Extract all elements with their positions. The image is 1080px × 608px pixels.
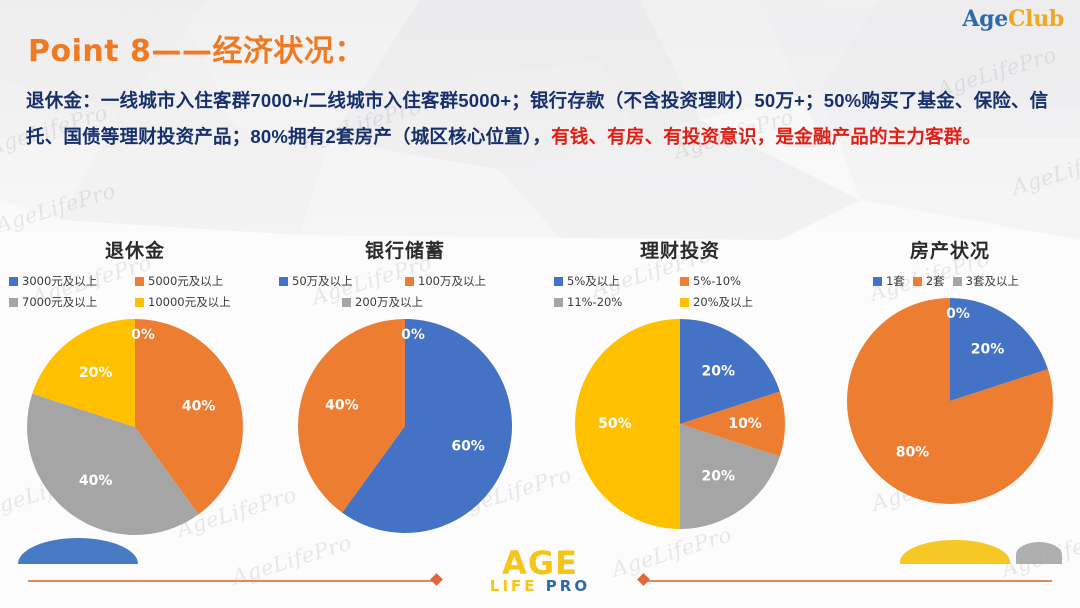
pie-chart: 60%40%0%: [270, 317, 540, 532]
pie-data-label: 40%: [79, 473, 113, 489]
legend-label: 100万及以上: [418, 273, 486, 289]
pie-data-label: 50%: [598, 416, 632, 432]
pie-data-label: 0%: [131, 327, 155, 343]
pie-chart: 20%80%0%: [815, 296, 1080, 511]
chart-wealth-investment: 理财投资 5%及以上5%-10%11%-20%20%及以上 20%10%20%5…: [545, 228, 815, 560]
footer-logo-subtitle: LIFE PRO: [490, 578, 590, 595]
chart-title: 房产状况: [815, 236, 1080, 263]
slide-root: AgeLifePro AgeLifePro AgeLifePro AgeLife…: [0, 0, 1080, 608]
chart-pension: 退休金 3000元及以上5000元及以上7000元及以上10000元及以上 0%…: [0, 228, 270, 560]
legend-item[interactable]: 3套及以上: [953, 273, 1019, 289]
slide-footer: AGE LIFE PRO: [0, 552, 1080, 608]
pie-data-label: 20%: [702, 469, 736, 485]
footer-logo-age: AGE: [490, 548, 590, 578]
pie-chart: 0%40%40%20%: [0, 317, 270, 532]
legend-item[interactable]: 5%及以上: [554, 273, 680, 289]
legend-label: 1套: [886, 273, 905, 289]
legend-swatch-icon: [135, 298, 144, 307]
legend-item[interactable]: 20%及以上: [680, 294, 806, 310]
footer-gray-shape: [1016, 542, 1062, 564]
pie-data-label: 10%: [728, 416, 762, 432]
legend-swatch-icon: [279, 277, 288, 286]
legend-swatch-icon: [342, 298, 351, 307]
legend-label: 11%-20%: [567, 295, 622, 309]
footer-logo-life: LIFE: [490, 577, 538, 595]
pie-svg: 0%40%40%20%: [25, 317, 245, 537]
chart-property-status: 房产状况 1套2套3套及以上 20%80%0%: [815, 228, 1080, 560]
legend-swatch-icon: [953, 277, 962, 286]
legend-item[interactable]: 5%-10%: [680, 273, 806, 289]
legend-swatch-icon: [913, 277, 922, 286]
pie-svg: 20%80%0%: [845, 296, 1055, 506]
legend-label: 2套: [926, 273, 945, 289]
charts-row: 退休金 3000元及以上5000元及以上7000元及以上10000元及以上 0%…: [0, 228, 1080, 560]
pie-data-label: 20%: [79, 365, 113, 381]
pie-data-label: 60%: [451, 439, 485, 455]
legend-item[interactable]: 3000元及以上: [9, 273, 135, 289]
legend-item[interactable]: 5000元及以上: [135, 273, 261, 289]
pie-svg: 60%40%0%: [296, 317, 514, 535]
legend-item[interactable]: 7000元及以上: [9, 294, 135, 310]
pie-data-label: 0%: [946, 306, 970, 322]
legend-label: 10000元及以上: [148, 294, 231, 310]
pie-data-label: 40%: [325, 397, 359, 413]
chart-legend: 3000元及以上5000元及以上7000元及以上10000元及以上: [9, 273, 261, 315]
pie-data-label: 40%: [182, 398, 216, 414]
legend-label: 3000元及以上: [22, 273, 97, 289]
legend-swatch-icon: [554, 298, 563, 307]
legend-swatch-icon: [680, 277, 689, 286]
legend-item[interactable]: 10000元及以上: [135, 294, 261, 310]
chart-title: 退休金: [0, 236, 270, 263]
legend-swatch-icon: [873, 277, 882, 286]
footer-logo-pro: PRO: [546, 577, 590, 595]
chart-title: 银行储蓄: [270, 236, 540, 263]
footer-divider-right: [642, 580, 1052, 582]
legend-swatch-icon: [135, 277, 144, 286]
body-line-1: 退休金：一线城市入住客群7000+/二线城市入住客群5000+；银行存款（不含投…: [26, 90, 824, 111]
legend-label: 200万及以上: [355, 294, 423, 310]
legend-item[interactable]: 200万及以上: [342, 294, 468, 310]
legend-label: 20%及以上: [693, 294, 753, 310]
legend-label: 50万及以上: [292, 273, 353, 289]
pie-data-label: 0%: [401, 327, 425, 343]
legend-label: 5%及以上: [567, 273, 620, 289]
chart-legend: 5%及以上5%-10%11%-20%20%及以上: [554, 273, 806, 315]
chart-bank-savings: 银行储蓄 50万及以上100万及以上200万及以上 60%40%0%: [270, 228, 540, 560]
logo-text-club: Club: [1008, 6, 1064, 32]
footer-diamond-right-icon: [637, 573, 650, 586]
logo-text-age: Age: [962, 6, 1008, 32]
legend-swatch-icon: [9, 277, 18, 286]
body-line-2-highlight: 有钱、有房、有投资意识，是金融产品的主力客群。: [551, 126, 981, 147]
pie-data-label: 20%: [971, 341, 1005, 357]
legend-item[interactable]: 2套: [913, 273, 945, 289]
chart-title: 理财投资: [545, 236, 815, 263]
footer-divider-left: [28, 580, 438, 582]
legend-label: 3套及以上: [966, 273, 1019, 289]
legend-item[interactable]: 11%-20%: [554, 294, 680, 310]
legend-swatch-icon: [405, 277, 414, 286]
chart-legend: 1套2套3套及以上: [824, 273, 1076, 294]
legend-item[interactable]: 50万及以上: [279, 273, 405, 289]
legend-swatch-icon: [680, 298, 689, 307]
legend-item[interactable]: 1套: [873, 273, 905, 289]
legend-swatch-icon: [554, 277, 563, 286]
ageclub-logo: AgeClub: [962, 6, 1064, 32]
legend-label: 7000元及以上: [22, 294, 97, 310]
legend-label: 5000元及以上: [148, 273, 223, 289]
agelifepro-footer-logo: AGE LIFE PRO: [490, 548, 590, 595]
legend-item[interactable]: 100万及以上: [405, 273, 531, 289]
chart-legend: 50万及以上100万及以上200万及以上: [279, 273, 531, 315]
pie-data-label: 80%: [896, 445, 930, 461]
pie-svg: 20%10%20%50%: [573, 317, 787, 531]
page-title: Point 8——经济状况：: [28, 26, 365, 70]
legend-label: 5%-10%: [693, 274, 741, 288]
legend-swatch-icon: [9, 298, 18, 307]
body-paragraph: 退休金：一线城市入住客群7000+/二线城市入住客群5000+；银行存款（不含投…: [26, 83, 1060, 155]
pie-data-label: 20%: [702, 363, 736, 379]
pie-chart: 20%10%20%50%: [545, 317, 815, 532]
footer-diamond-left-icon: [430, 573, 443, 586]
